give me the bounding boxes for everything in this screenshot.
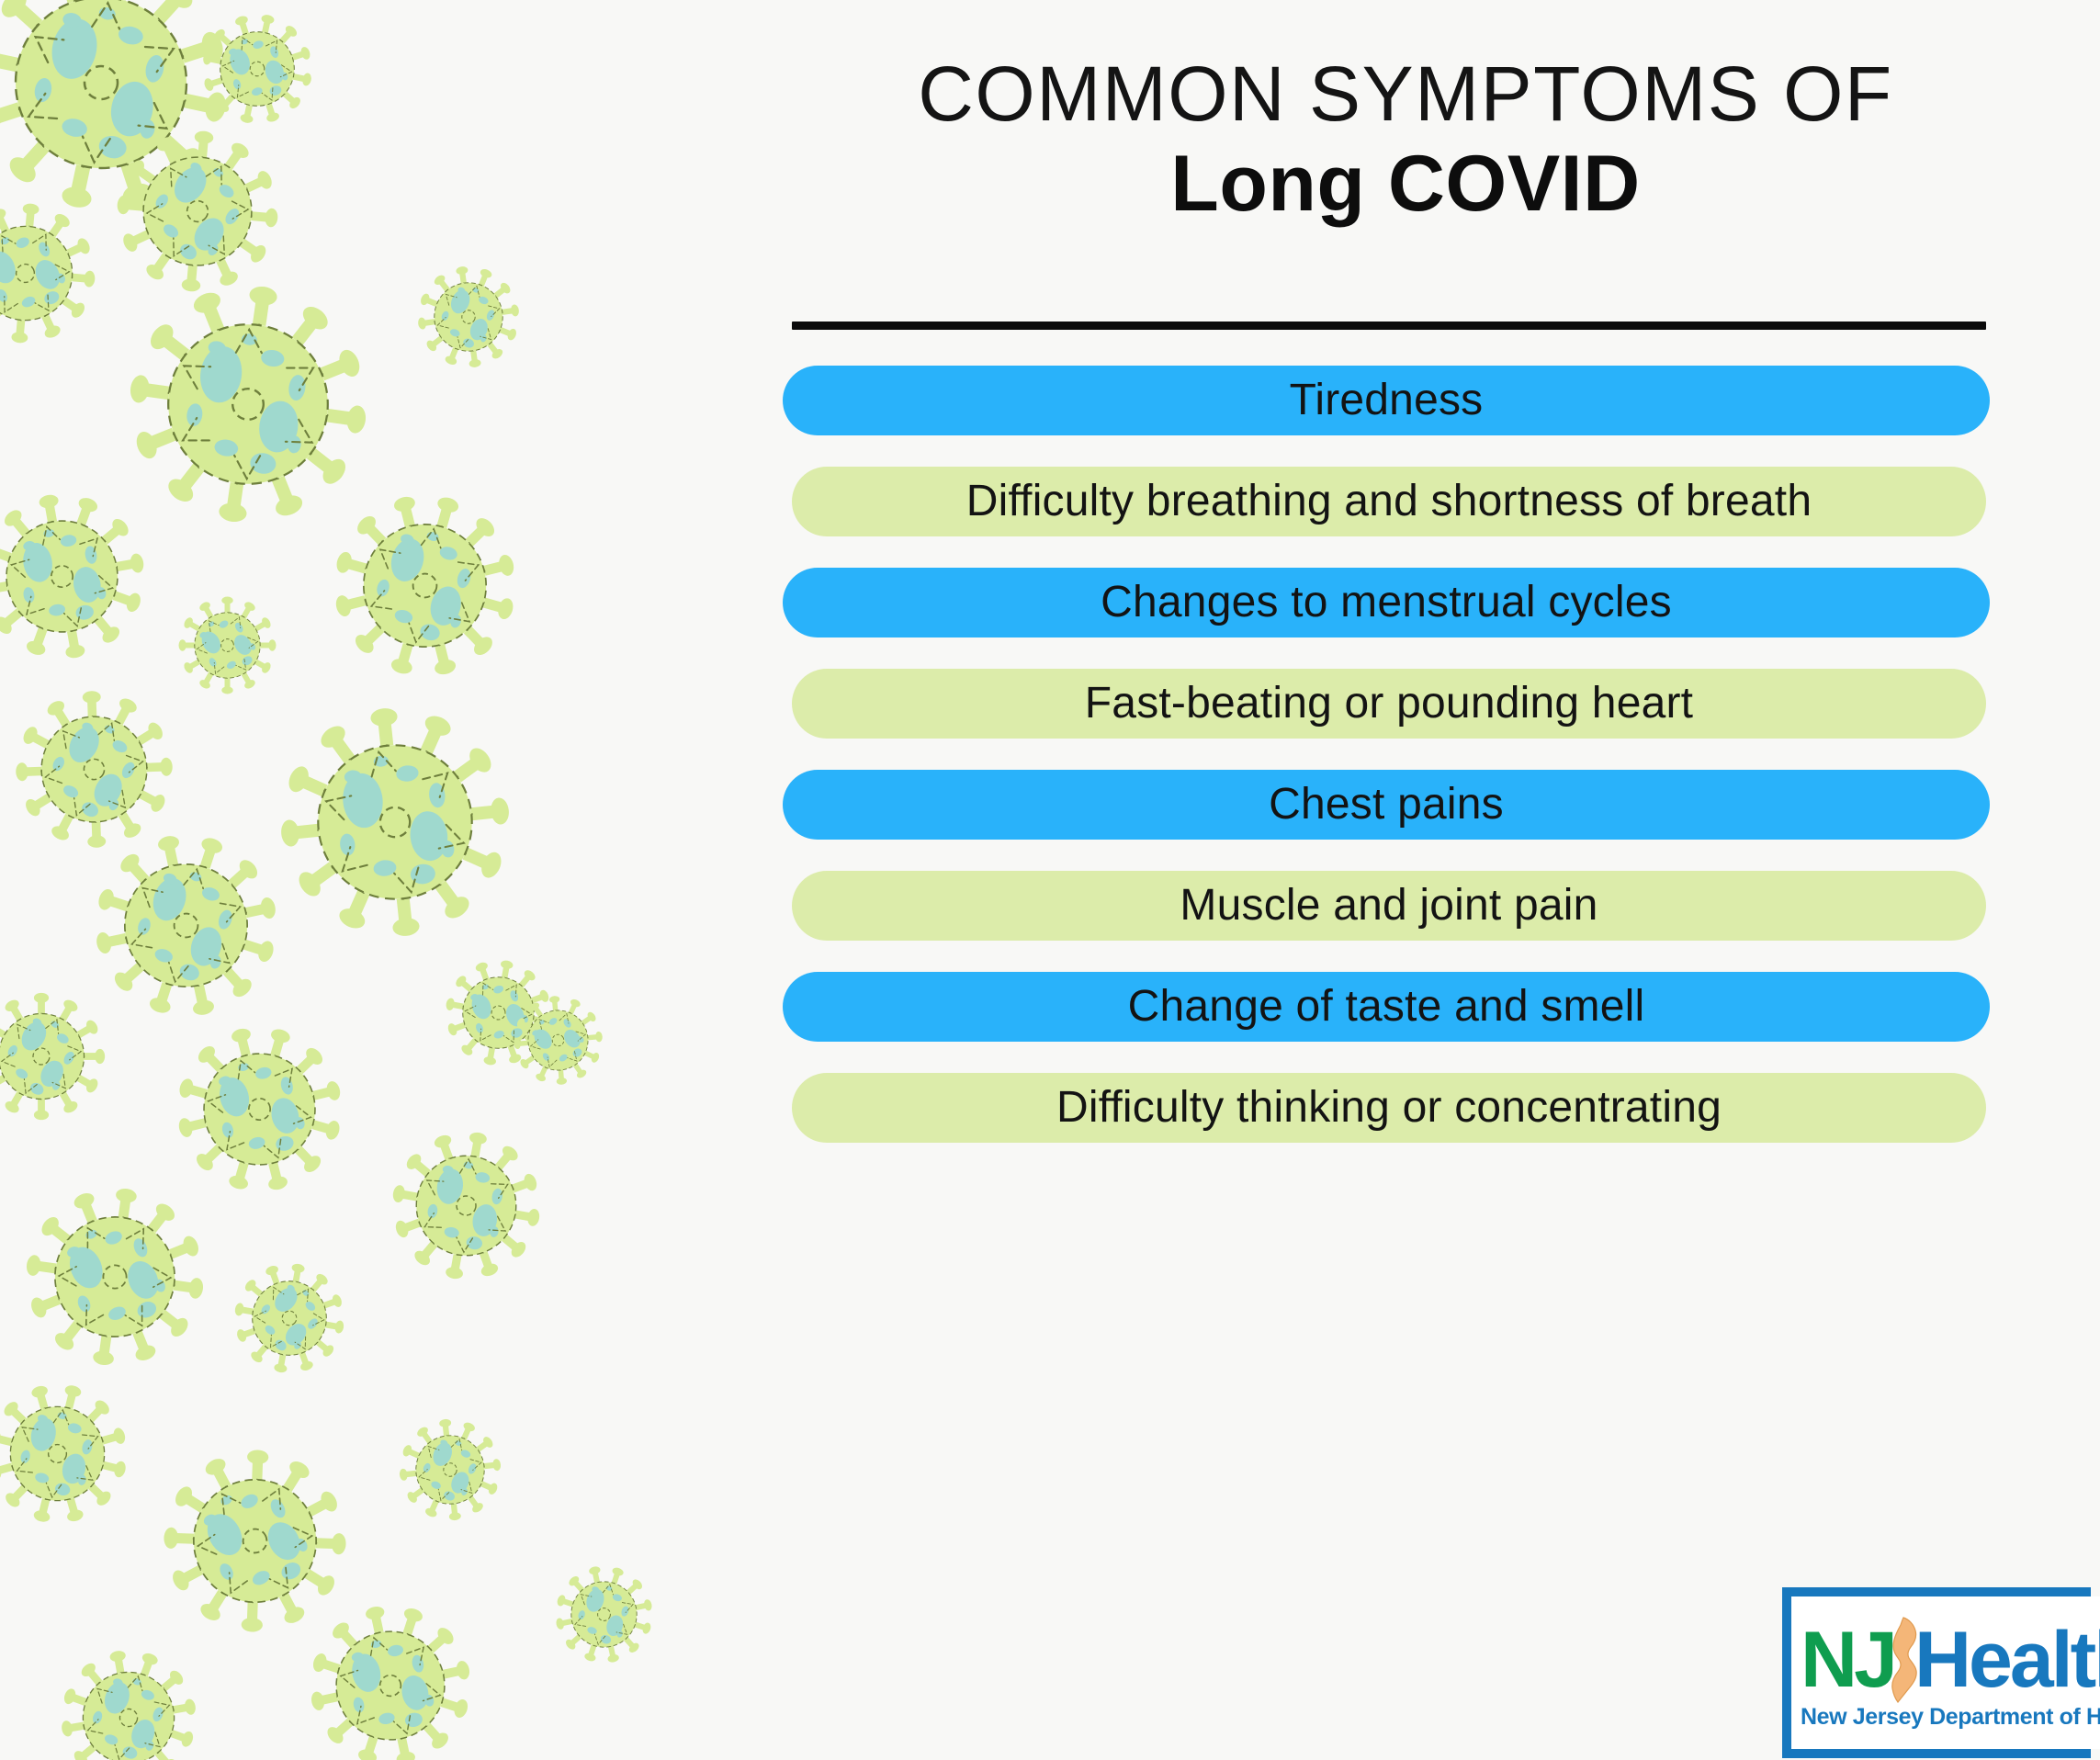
nj-health-logo: NJ Health New Jersey Department of Healt… xyxy=(1782,1587,2091,1758)
virus-particle-icon xyxy=(424,939,571,1086)
symptom-pill: Change of taste and smell xyxy=(783,972,1990,1042)
title-divider-rule xyxy=(792,322,1986,330)
symptom-label: Tiredness xyxy=(1290,378,1484,423)
symptom-pill: Difficulty breathing and shortness of br… xyxy=(792,467,1986,536)
symptom-pill: Difficulty thinking or concentrating xyxy=(792,1073,1986,1143)
symptom-label: Difficulty breathing and shortness of br… xyxy=(966,479,1812,524)
virus-particle-icon xyxy=(259,686,532,959)
symptom-list: TirednessDifficulty breathing and shortn… xyxy=(779,366,2001,1174)
symptom-label: Muscle and joint pain xyxy=(1180,884,1598,928)
virus-particle-icon xyxy=(0,0,265,246)
logo-nj-text: NJ xyxy=(1801,1620,1894,1699)
virus-particle-icon xyxy=(182,0,333,144)
virus-background-decoration xyxy=(0,0,808,1760)
logo-health-text: Health xyxy=(1914,1620,2100,1699)
symptom-pill: Tiredness xyxy=(783,366,1990,435)
infographic-canvas: COMMON SYMPTOMS OF Long COVID TirednessD… xyxy=(0,0,2100,1760)
symptom-pill: Muscle and joint pain xyxy=(792,871,1986,941)
symptom-label: Fast-beating or pounding heart xyxy=(1085,682,1693,726)
virus-particle-icon xyxy=(0,173,126,374)
virus-particle-icon xyxy=(397,245,540,389)
virus-particle-icon xyxy=(373,1112,559,1299)
virus-particle-icon xyxy=(0,473,165,681)
virus-particle-icon xyxy=(34,1623,222,1760)
logo-wordmark: NJ Health xyxy=(1801,1618,2100,1702)
logo-tagline: New Jersey Department of Health xyxy=(1801,1706,2100,1729)
symptom-label: Difficulty thinking or concentrating xyxy=(1056,1086,1722,1130)
virus-particle-icon xyxy=(103,259,393,549)
virus-particle-icon xyxy=(378,1397,523,1542)
logo-inner-panel: NJ Health New Jersey Department of Healt… xyxy=(1791,1596,2100,1749)
virus-particle-icon xyxy=(0,1361,150,1545)
virus-particle-icon xyxy=(0,963,135,1151)
virus-particle-icon xyxy=(537,1548,671,1681)
symptom-pill: Fast-beating or pounding heart xyxy=(792,669,1986,739)
virus-particle-icon xyxy=(155,573,299,717)
virus-particle-icon xyxy=(76,90,320,333)
page-title: COMMON SYMPTOMS OF Long COVID xyxy=(790,55,2021,228)
virus-particle-icon xyxy=(62,801,310,1050)
symptom-pill: Changes to menstrual cycles xyxy=(783,568,1990,637)
title-primary-line: COMMON SYMPTOMS OF xyxy=(790,55,2021,134)
virus-particle-icon xyxy=(0,1151,241,1402)
title-emphasis-line: Long COVID xyxy=(790,140,2021,228)
virus-particle-icon xyxy=(491,973,625,1107)
symptom-label: Changes to menstrual cycles xyxy=(1101,581,1672,625)
virus-particle-icon xyxy=(121,1407,389,1675)
virus-particle-icon xyxy=(151,1000,367,1217)
virus-particle-icon xyxy=(287,1582,493,1760)
symptom-label: Change of taste and smell xyxy=(1128,985,1645,1029)
content-column: COMMON SYMPTOMS OF Long COVID TirednessD… xyxy=(772,0,2100,1760)
symptom-label: Chest pains xyxy=(1269,783,1504,827)
virus-particle-icon xyxy=(303,464,548,708)
virus-particle-icon xyxy=(0,654,209,884)
symptom-pill: Chest pains xyxy=(783,770,1990,840)
virus-particle-icon xyxy=(205,1234,373,1402)
